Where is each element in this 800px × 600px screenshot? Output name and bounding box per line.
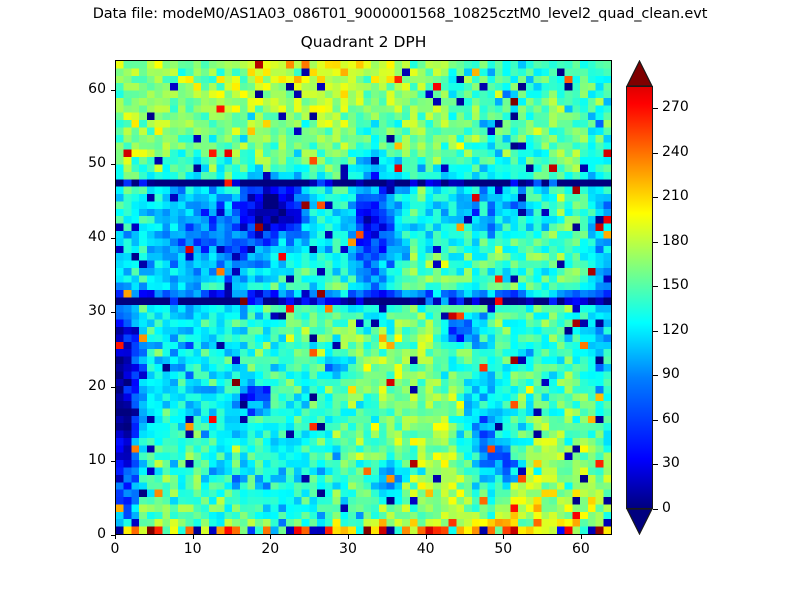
y-tick-mark: [111, 535, 115, 536]
y-tick-label: 60: [62, 81, 106, 97]
colorbar-tick-mark: [653, 375, 658, 376]
y-tick-mark: [111, 90, 115, 91]
matplotlib-figure: Data file: modeM0/AS1A03_086T01_90000015…: [0, 0, 800, 600]
colorbar-tick-label: 270: [662, 99, 689, 115]
y-tick-label: 0: [62, 526, 106, 542]
x-tick-mark: [426, 535, 427, 539]
colorbar-tick-mark: [653, 286, 658, 287]
x-tick-label: 0: [95, 541, 135, 557]
x-tick-label: 30: [328, 541, 368, 557]
colorbar-tick-mark: [653, 509, 658, 510]
colorbar[interactable]: 0306090120150180210240270: [626, 60, 653, 535]
colorbar-tick-label: 120: [662, 322, 689, 338]
y-tick-mark: [111, 164, 115, 165]
x-tick-label: 60: [561, 541, 601, 557]
x-tick-mark: [503, 535, 504, 539]
x-tick-label: 40: [406, 541, 446, 557]
colorbar-tick-label: 0: [662, 500, 671, 516]
heatmap-image: [116, 61, 611, 534]
y-tick-label: 30: [62, 303, 106, 319]
y-tick-label: 50: [62, 155, 106, 171]
colorbar-tick-label: 240: [662, 144, 689, 160]
y-tick-mark: [111, 312, 115, 313]
colorbar-gradient: [626, 86, 653, 509]
y-tick-mark: [111, 387, 115, 388]
colorbar-tick-label: 90: [662, 366, 680, 382]
x-tick-mark: [581, 535, 582, 539]
colorbar-tick-label: 30: [662, 455, 680, 471]
y-tick-mark: [111, 238, 115, 239]
x-tick-label: 50: [483, 541, 523, 557]
colorbar-tick-mark: [653, 331, 658, 332]
colorbar-tick-label: 210: [662, 188, 689, 204]
x-tick-mark: [193, 535, 194, 539]
x-tick-mark: [348, 535, 349, 539]
colorbar-extend-min-arrow-icon: [626, 508, 653, 535]
y-tick-label: 40: [62, 229, 106, 245]
y-tick-label: 20: [62, 378, 106, 394]
y-tick-mark: [111, 461, 115, 462]
colorbar-tick-mark: [653, 464, 658, 465]
colorbar-tick-label: 180: [662, 233, 689, 249]
colorbar-extend-max-arrow-icon: [626, 60, 653, 87]
x-tick-label: 20: [250, 541, 290, 557]
colorbar-tick-mark: [653, 197, 658, 198]
colorbar-tick-mark: [653, 242, 658, 243]
y-tick-label: 10: [62, 452, 106, 468]
heatmap-axes[interactable]: [115, 60, 612, 535]
x-tick-mark: [115, 535, 116, 539]
x-tick-label: 10: [173, 541, 213, 557]
colorbar-tick-label: 150: [662, 277, 689, 293]
x-tick-mark: [270, 535, 271, 539]
colorbar-tick-label: 60: [662, 411, 680, 427]
colorbar-tick-mark: [653, 420, 658, 421]
figure-suptitle: Data file: modeM0/AS1A03_086T01_90000015…: [0, 6, 800, 22]
colorbar-tick-mark: [653, 153, 658, 154]
colorbar-tick-mark: [653, 108, 658, 109]
axes-title: Quadrant 2 DPH: [115, 33, 612, 51]
